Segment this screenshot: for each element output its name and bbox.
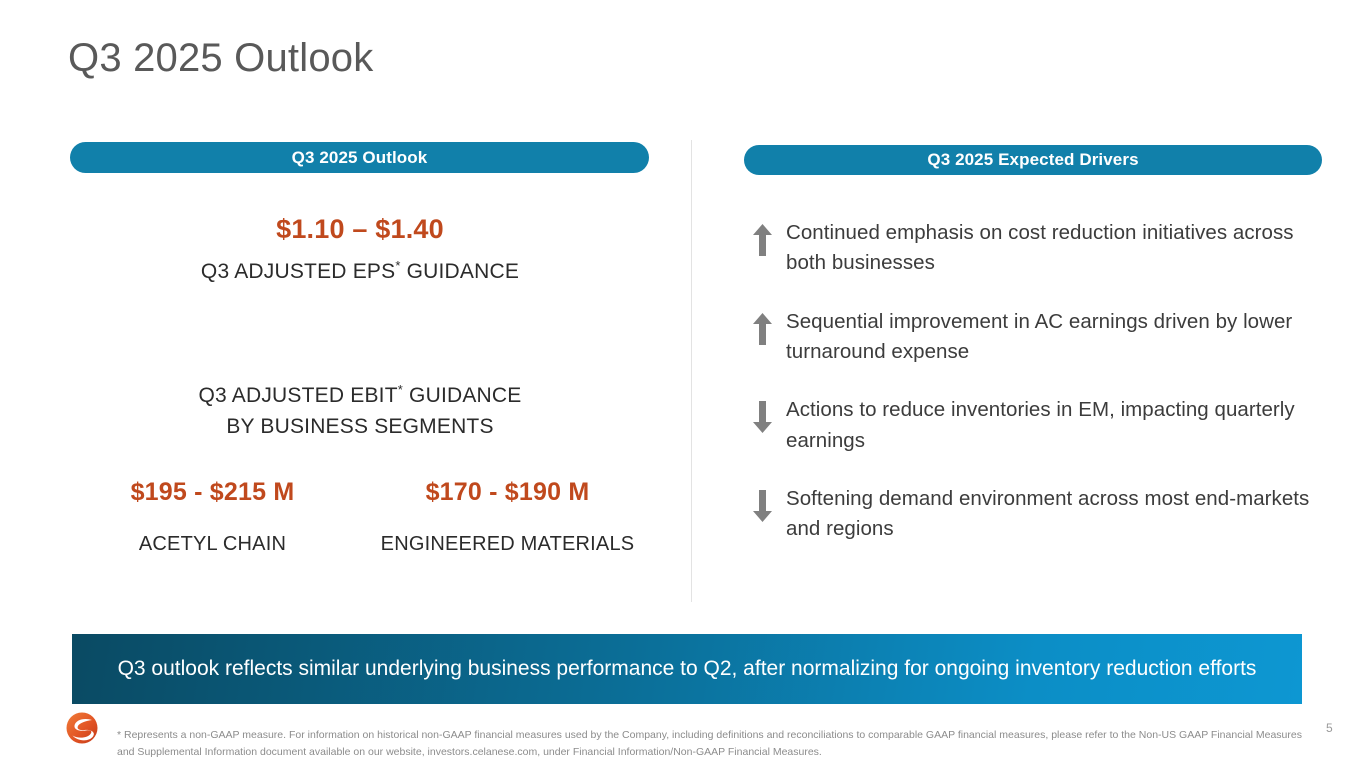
segment-item-acetyl-chain: $195 - $215 M ACETYL CHAIN xyxy=(70,478,355,556)
arrow-up-icon xyxy=(744,218,780,256)
page-title: Q3 2025 Outlook xyxy=(68,36,373,81)
segment-name: ENGINEERED MATERIALS xyxy=(365,533,650,556)
segment-value: $195 - $215 M xyxy=(70,478,355,507)
drivers-list: Continued emphasis on cost reduction ini… xyxy=(744,218,1324,573)
footnote: * Represents a non-GAAP measure. For inf… xyxy=(117,727,1307,761)
segment-item-engineered-materials: $170 - $190 M ENGINEERED MATERIALS xyxy=(365,478,650,556)
page-number: 5 xyxy=(1326,721,1333,735)
segment-value: $170 - $190 M xyxy=(365,478,650,507)
driver-text: Actions to reduce inventories in EM, imp… xyxy=(780,395,1324,456)
ebit-guidance-title-line2: BY BUSINESS SEGMENTS xyxy=(226,415,493,438)
driver-item: Softening demand environment across most… xyxy=(744,484,1324,545)
arrow-down-icon xyxy=(744,484,780,522)
ebit-guidance-title-prefix: Q3 ADJUSTED EBIT xyxy=(199,384,398,407)
ebit-guidance-title: Q3 ADJUSTED EBIT* GUIDANCE BY BUSINESS S… xyxy=(70,380,650,442)
summary-banner: Q3 outlook reflects similar underlying b… xyxy=(72,634,1302,704)
eps-guidance-label-prefix: Q3 ADJUSTED EPS xyxy=(201,260,395,283)
driver-text: Continued emphasis on cost reduction ini… xyxy=(780,218,1324,279)
segment-name: ACETYL CHAIN xyxy=(70,533,355,556)
eps-guidance-label-suffix: GUIDANCE xyxy=(401,260,519,283)
panel-divider xyxy=(691,140,692,602)
arrow-up-icon xyxy=(744,307,780,345)
driver-item: Sequential improvement in AC earnings dr… xyxy=(744,307,1324,368)
right-panel-header-pill: Q3 2025 Expected Drivers xyxy=(744,145,1322,175)
eps-guidance-label: Q3 ADJUSTED EPS* GUIDANCE xyxy=(70,260,650,284)
segment-list: $195 - $215 M ACETYL CHAIN $170 - $190 M… xyxy=(70,478,650,556)
driver-text: Sequential improvement in AC earnings dr… xyxy=(780,307,1324,368)
eps-guidance-value: $1.10 – $1.40 xyxy=(70,214,650,245)
ebit-guidance-title-suffix: GUIDANCE xyxy=(403,384,521,407)
left-panel-header-label: Q3 2025 Outlook xyxy=(292,148,428,168)
summary-banner-text: Q3 outlook reflects similar underlying b… xyxy=(118,653,1257,685)
outlook-panel: $1.10 – $1.40 Q3 ADJUSTED EPS* GUIDANCE … xyxy=(70,200,650,556)
arrow-down-icon xyxy=(744,395,780,433)
celanese-logo xyxy=(63,709,101,747)
right-panel-header-label: Q3 2025 Expected Drivers xyxy=(927,150,1138,170)
left-panel-header-pill: Q3 2025 Outlook xyxy=(70,142,649,173)
driver-text: Softening demand environment across most… xyxy=(780,484,1324,545)
driver-item: Actions to reduce inventories in EM, imp… xyxy=(744,395,1324,456)
driver-item: Continued emphasis on cost reduction ini… xyxy=(744,218,1324,279)
